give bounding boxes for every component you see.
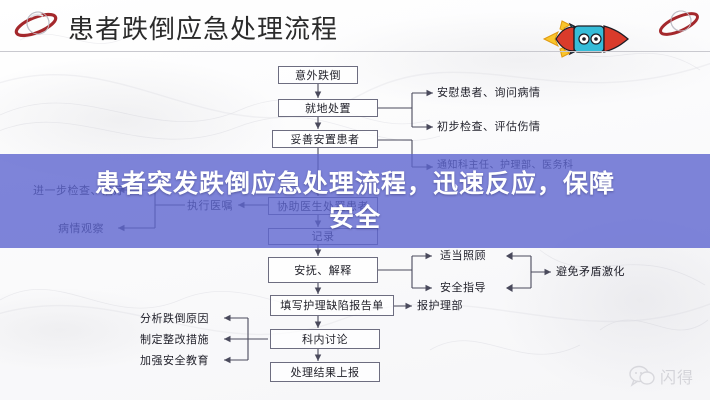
- watermark: 闪得: [629, 364, 694, 388]
- flow-node-label: 安抚、解释: [294, 265, 352, 276]
- flow-node-label: 就地处置: [305, 103, 351, 114]
- flow-leaf-initial-exam-assess: 初步检查、评估伤情: [437, 121, 541, 132]
- flow-leaf-label: 初步检查、评估伤情: [437, 120, 541, 133]
- screenshot-canvas: 患者跌倒应急处理流程: [0, 0, 710, 400]
- flow-leaf-label: 加强安全教育: [140, 354, 209, 367]
- flow-leaf-comfort-patient-inquire: 安慰患者、询问病情: [437, 87, 541, 98]
- flow-leaf-label: 适当照顾: [440, 249, 486, 262]
- flow-node-label: 科内讨论: [302, 334, 348, 345]
- flow-node-label: 妥善安置患者: [291, 134, 360, 145]
- flow-leaf-avoid-conflict-escalation: 避免矛盾激化: [556, 266, 625, 277]
- flow-node-settle-patient: 妥善安置患者: [272, 130, 378, 148]
- flow-node-label: 意外跌倒: [295, 70, 341, 81]
- caption-line-1: 患者突发跌倒应急处理流程，迅速反应，保障: [95, 167, 615, 201]
- flow-leaf-formulate-corrective-measures: 制定整改措施: [140, 334, 209, 345]
- flow-leaf-label: 安全指导: [440, 281, 486, 294]
- caption-line-2: 安全: [329, 201, 381, 235]
- flow-node-label: 处理结果上报: [291, 367, 360, 378]
- flow-leaf-proper-care: 适当照顾: [440, 250, 486, 261]
- flow-leaf-label: 安慰患者、询问病情: [437, 86, 541, 99]
- flow-node-fill-defect-report: 填写护理缺陷报告单: [270, 295, 394, 316]
- flow-leaf-label: 制定整改措施: [140, 333, 209, 346]
- flow-node-label: 填写护理缺陷报告单: [280, 300, 384, 311]
- flow-leaf-safety-guidance: 安全指导: [440, 282, 486, 293]
- watermark-text: 闪得: [660, 364, 694, 388]
- caption-banner: 患者突发跌倒应急处理流程，迅速反应，保障 安全: [0, 154, 710, 248]
- flow-leaf-analyze-fall-cause: 分析跌倒原因: [140, 313, 209, 324]
- chat-bubble-icon: [629, 365, 655, 387]
- flow-leaf-strengthen-safety-education: 加强安全教育: [140, 355, 209, 366]
- flow-node-report-result: 处理结果上报: [270, 362, 380, 382]
- flow-node-comfort-explain: 安抚、解释: [268, 257, 378, 283]
- flow-node-department-discussion: 科内讨论: [270, 329, 380, 349]
- flow-leaf-label: 避免矛盾激化: [556, 265, 625, 278]
- flow-leaf-label: 分析跌倒原因: [140, 312, 209, 325]
- flow-node-on-site-handling: 就地处置: [278, 99, 378, 117]
- flow-leaf-label: 报护理部: [417, 299, 463, 312]
- flow-leaf-report-nursing-dept: 报护理部: [417, 300, 463, 311]
- flow-node-accidental-fall: 意外跌倒: [278, 66, 358, 84]
